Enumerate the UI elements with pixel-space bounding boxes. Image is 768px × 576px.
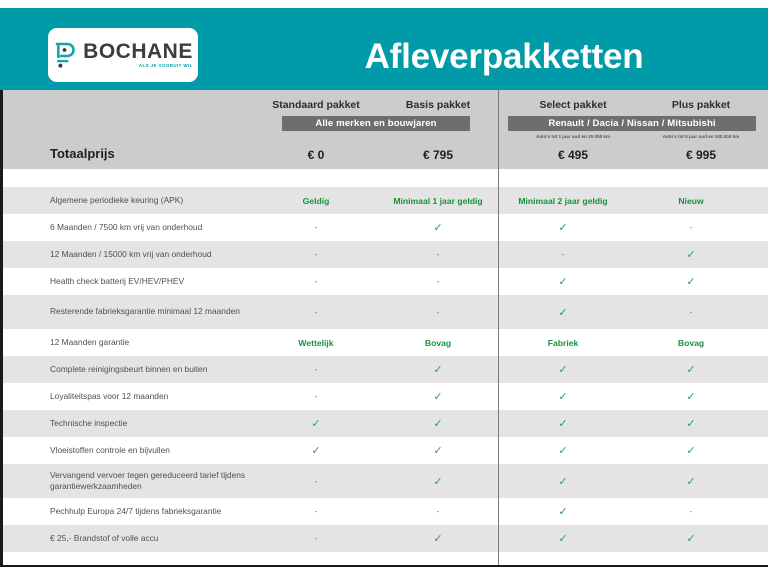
cell-value: ✓ bbox=[628, 248, 754, 261]
cell-value: - bbox=[628, 308, 754, 317]
row-label: Vervangend vervoer tegen gereduceerd tar… bbox=[0, 470, 254, 493]
cell-value: ✓ bbox=[498, 363, 628, 376]
cell-value: Fabriek bbox=[498, 338, 628, 348]
row-label: Loyaliteitspas voor 12 maanden bbox=[0, 391, 254, 402]
select-age-note: Auto's tot 1 jaar oud en 20.000 km bbox=[508, 134, 638, 139]
cell-value: Minimaal 1 jaar geldig bbox=[378, 196, 498, 206]
table-row: Algemene periodieke keuring (APK)GeldigM… bbox=[0, 187, 768, 214]
row-label: 12 Maanden / 15000 km vrij van onderhoud bbox=[0, 249, 254, 260]
cell-value: Nieuw bbox=[628, 196, 754, 206]
cell-value: ✓ bbox=[378, 532, 498, 545]
cell-value: ✓ bbox=[498, 275, 628, 288]
table-row: Technische inspectie✓✓✓✓ bbox=[0, 410, 768, 437]
cell-value: Geldig bbox=[254, 196, 378, 206]
bochane-logo: BOCHANE ALS JE VOORUIT WIL bbox=[48, 28, 198, 82]
cell-value: - bbox=[254, 277, 378, 286]
cell-value: - bbox=[378, 507, 498, 516]
bochane-car-icon bbox=[53, 40, 77, 70]
cell-value: ✓ bbox=[498, 532, 628, 545]
cell-value: - bbox=[254, 365, 378, 374]
cell-value: ✓ bbox=[628, 532, 754, 545]
row-label: Pechhulp Europa 24/7 tijdens fabrieksgar… bbox=[0, 506, 254, 517]
cell-value: ✓ bbox=[498, 417, 628, 430]
row-label: 6 Maanden / 7500 km vrij van onderhoud bbox=[0, 222, 254, 233]
cell-value: ✓ bbox=[254, 444, 378, 457]
cell-value: ✓ bbox=[498, 221, 628, 234]
cell-value: - bbox=[254, 250, 378, 259]
column-group-divider bbox=[498, 90, 499, 567]
cell-value: - bbox=[498, 250, 628, 259]
table-row: € 25,- Brandstof of volle accu-✓✓✓ bbox=[0, 525, 768, 552]
feature-table-body: Algemene periodieke keuring (APK)GeldigM… bbox=[0, 169, 768, 567]
cell-value: ✓ bbox=[378, 417, 498, 430]
cell-value: - bbox=[254, 308, 378, 317]
row-label: Complete reinigingsbeurt binnen en buite… bbox=[0, 364, 254, 375]
price-select: € 495 bbox=[508, 148, 638, 162]
cell-value: - bbox=[628, 507, 754, 516]
brand-bar-renault-group: Renault / Dacia / Nissan / Mitsubishi bbox=[508, 116, 756, 131]
cell-value: - bbox=[378, 308, 498, 317]
price-basis: € 795 bbox=[378, 148, 498, 162]
cell-value: - bbox=[378, 250, 498, 259]
cell-value: Minimaal 2 jaar geldig bbox=[498, 196, 628, 206]
page-title: Afleverpakketten bbox=[240, 16, 768, 98]
logo-tagline: ALS JE VOORUIT WIL bbox=[139, 64, 193, 68]
cell-value: - bbox=[254, 507, 378, 516]
table-row: Vervangend vervoer tegen gereduceerd tar… bbox=[0, 464, 768, 498]
logo-wordmark: BOCHANE bbox=[83, 41, 193, 62]
column-header-basis: Basis pakket bbox=[378, 99, 498, 111]
table-row: Loyaliteitspas voor 12 maanden-✓✓✓ bbox=[0, 383, 768, 410]
cell-value: - bbox=[254, 392, 378, 401]
column-header-select: Select pakket bbox=[508, 99, 638, 111]
cell-value: ✓ bbox=[628, 475, 754, 488]
plus-age-note: Auto's tot 5 jaar oud en 100.000 km bbox=[638, 134, 764, 139]
cell-value: ✓ bbox=[378, 390, 498, 403]
table-top-spacer bbox=[0, 169, 768, 187]
cell-value: - bbox=[378, 277, 498, 286]
cell-value: ✓ bbox=[628, 390, 754, 403]
top-white-margin bbox=[0, 0, 768, 8]
bottom-frame-edge bbox=[0, 565, 768, 567]
table-row: Resterende fabrieksgarantie minimaal 12 … bbox=[0, 295, 768, 329]
table-row: Pechhulp Europa 24/7 tijdens fabrieksgar… bbox=[0, 498, 768, 525]
column-header-plus: Plus pakket bbox=[638, 99, 764, 111]
brand-bar-all-makes: Alle merken en bouwjaren bbox=[282, 116, 470, 131]
table-row: 12 Maanden garantieWettelijkBovagFabriek… bbox=[0, 329, 768, 356]
row-label: 12 Maanden garantie bbox=[0, 337, 254, 348]
cell-value: - bbox=[254, 223, 378, 232]
table-row: Complete reinigingsbeurt binnen en buite… bbox=[0, 356, 768, 383]
price-standaard: € 0 bbox=[254, 148, 378, 162]
cell-value: - bbox=[254, 534, 378, 543]
cell-value: ✓ bbox=[498, 444, 628, 457]
cell-value: ✓ bbox=[254, 417, 378, 430]
cell-value: ✓ bbox=[378, 475, 498, 488]
cell-value: Bovag bbox=[628, 338, 754, 348]
cell-value: ✓ bbox=[628, 444, 754, 457]
cell-value: ✓ bbox=[378, 221, 498, 234]
total-price-label: Totaalprijs bbox=[50, 146, 115, 161]
cell-value: ✓ bbox=[498, 390, 628, 403]
cell-value: ✓ bbox=[498, 505, 628, 518]
cell-value: ✓ bbox=[498, 475, 628, 488]
row-label: Technische inspectie bbox=[0, 418, 254, 429]
cell-value: ✓ bbox=[378, 444, 498, 457]
table-row: 12 Maanden / 15000 km vrij van onderhoud… bbox=[0, 241, 768, 268]
cell-value: ✓ bbox=[628, 363, 754, 376]
afleverpakketten-sheet: BOCHANE ALS JE VOORUIT WIL Afleverpakket… bbox=[0, 0, 768, 576]
row-label: € 25,- Brandstof of volle accu bbox=[0, 533, 254, 544]
row-label: Vloeistoffen controle en bijvullen bbox=[0, 445, 254, 456]
price-plus: € 995 bbox=[638, 148, 764, 162]
header-banner: BOCHANE ALS JE VOORUIT WIL Afleverpakket… bbox=[0, 8, 768, 90]
row-label: Resterende fabrieksgarantie minimaal 12 … bbox=[0, 306, 254, 317]
left-frame-edge bbox=[0, 90, 3, 567]
table-row: Vloeistoffen controle en bijvullen✓✓✓✓ bbox=[0, 437, 768, 464]
table-row: Health check batterij EV/HEV/PHEV--✓✓ bbox=[0, 268, 768, 295]
cell-value: - bbox=[254, 477, 378, 486]
cell-value: ✓ bbox=[498, 306, 628, 319]
cell-value: - bbox=[628, 223, 754, 232]
column-header-standaard: Standaard pakket bbox=[254, 99, 378, 111]
cell-value: Wettelijk bbox=[254, 338, 378, 348]
row-label: Algemene periodieke keuring (APK) bbox=[0, 195, 254, 206]
row-label: Health check batterij EV/HEV/PHEV bbox=[0, 276, 254, 287]
cell-value: ✓ bbox=[378, 363, 498, 376]
table-row: 6 Maanden / 7500 km vrij van onderhoud-✓… bbox=[0, 214, 768, 241]
cell-value: Bovag bbox=[378, 338, 498, 348]
cell-value: ✓ bbox=[628, 417, 754, 430]
cell-value: ✓ bbox=[628, 275, 754, 288]
